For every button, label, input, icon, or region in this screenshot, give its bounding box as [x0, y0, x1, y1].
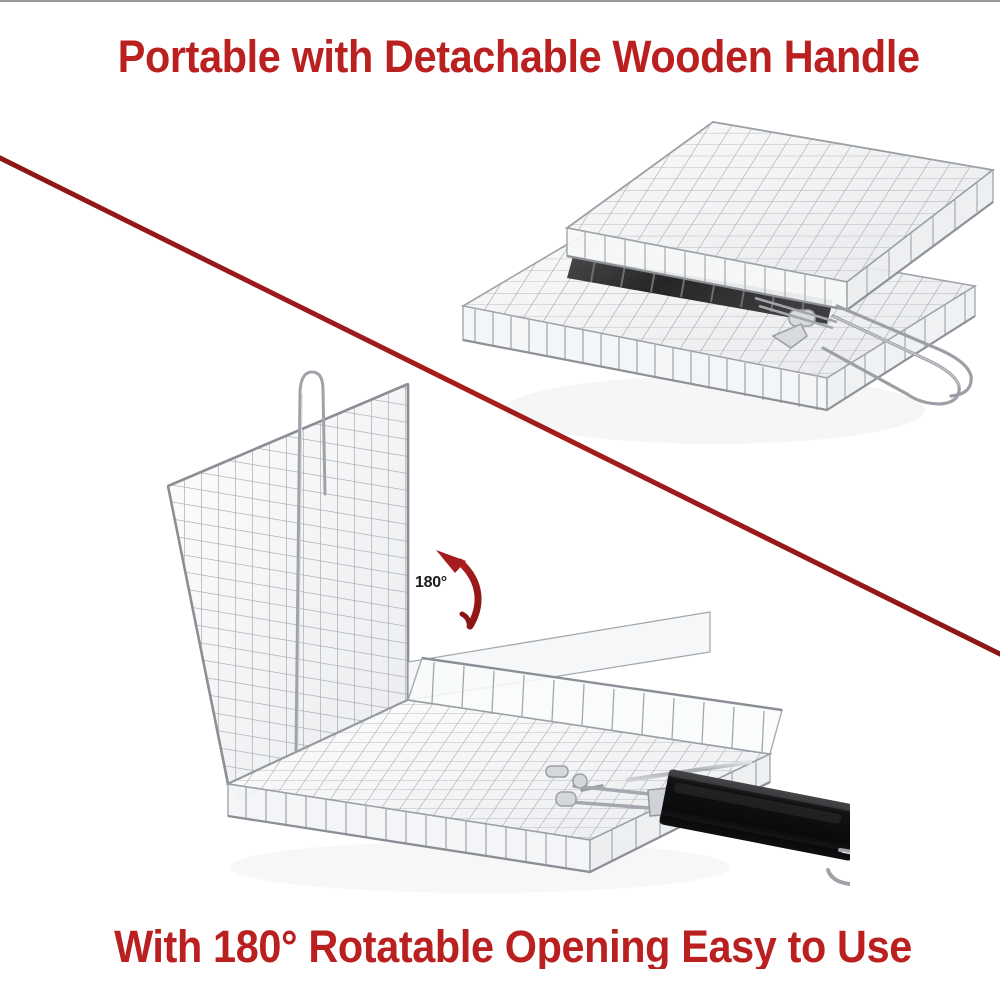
- rotation-degree-label: 180°: [415, 574, 447, 592]
- page-title-top: Portable with Detachable Wooden Handle: [0, 34, 1000, 79]
- page-title-bottom: With 180° Rotatable Opening Easy to Use: [0, 924, 1000, 969]
- product-image-grill-basket-open: [150, 362, 850, 922]
- product-feature-image: Portable with Detachable Wooden Handle: [0, 0, 1000, 1000]
